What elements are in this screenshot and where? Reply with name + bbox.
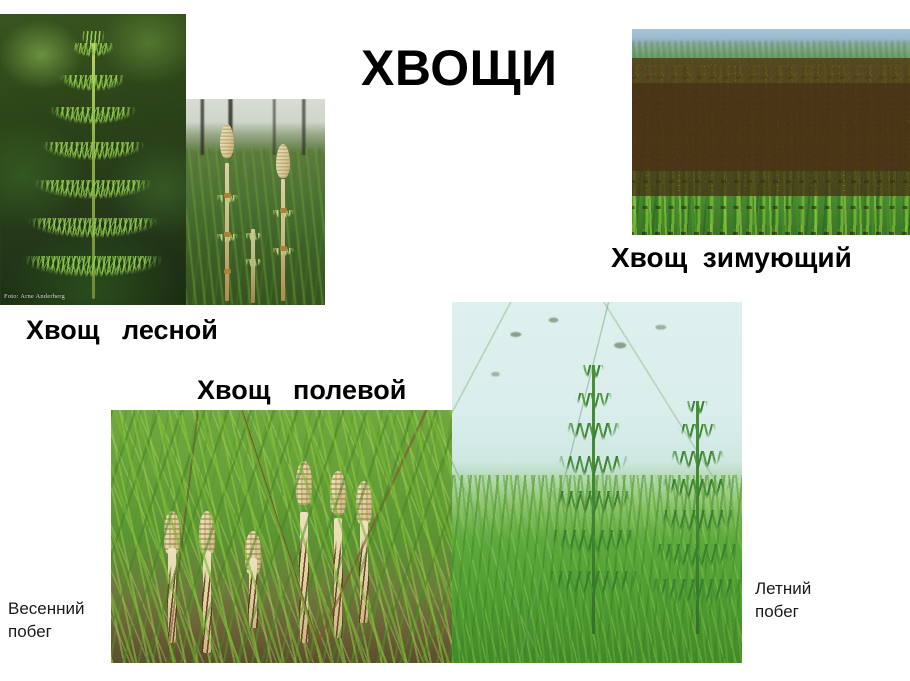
shoot-whorl: [580, 365, 606, 391]
shoot-node: [224, 193, 231, 198]
foreground-grass-layer: [111, 410, 455, 663]
slide-canvas: Foto: Arne Anderberg: [0, 0, 910, 681]
shoot-whorl: [570, 393, 616, 423]
shoot-whorl: [242, 259, 264, 272]
shoot-whorl: [242, 233, 264, 246]
field-horsetail-summer-shoots-photo: [452, 302, 742, 663]
slide-title: ХВОЩИ: [361, 40, 558, 96]
forest-plant-tip: [79, 31, 107, 55]
label-spring-shoot: Весенний побег: [8, 598, 85, 644]
winter-horsetail-photo: [632, 29, 910, 235]
forest-whorl: [37, 107, 149, 143]
spore-cones-layer: [632, 83, 910, 196]
forest-whorl: [26, 142, 160, 180]
caption-winter-horsetail: Хвощ зимующий: [611, 241, 852, 275]
shoot-whorl: [684, 401, 710, 427]
spore-shoot: [236, 208, 270, 303]
shoot-node: [224, 269, 231, 274]
forest-horsetail-spring-shoots-photo: [186, 99, 325, 305]
shoot-whorl: [543, 491, 643, 533]
shoot-node: [224, 232, 231, 237]
label-summer-shoot: Летний побег: [755, 578, 811, 624]
spore-cone: [276, 144, 290, 178]
forest-whorl: [17, 180, 169, 220]
caption-forest-horsetail: Хвощ лесной: [26, 314, 218, 347]
shoot-whorl: [560, 423, 626, 457]
forest-horsetail-photo: Foto: Arne Anderberg: [0, 14, 186, 305]
shoot-whorl: [537, 530, 649, 574]
caption-field-horsetail: Хвощ полевой: [197, 374, 406, 407]
shoot-stem: [281, 179, 285, 301]
summer-shoot: [643, 396, 742, 634]
shoot-whorl: [551, 456, 635, 494]
photo-watermark: Foto: Arne Anderberg: [4, 293, 65, 300]
shoot-node: [280, 208, 287, 213]
shoot-node: [280, 246, 287, 251]
shoot-whorl: [655, 479, 739, 517]
field-horsetail-spring-shoots-photo: [111, 410, 455, 663]
shoot-whorl: [674, 424, 720, 454]
forest-whorl: [50, 75, 136, 109]
shoot-whorl: [664, 451, 730, 485]
forest-whorl: [9, 218, 177, 260]
summer-shoot: [533, 360, 653, 634]
spore-cone: [220, 124, 234, 158]
shoot-whorl: [533, 571, 653, 617]
